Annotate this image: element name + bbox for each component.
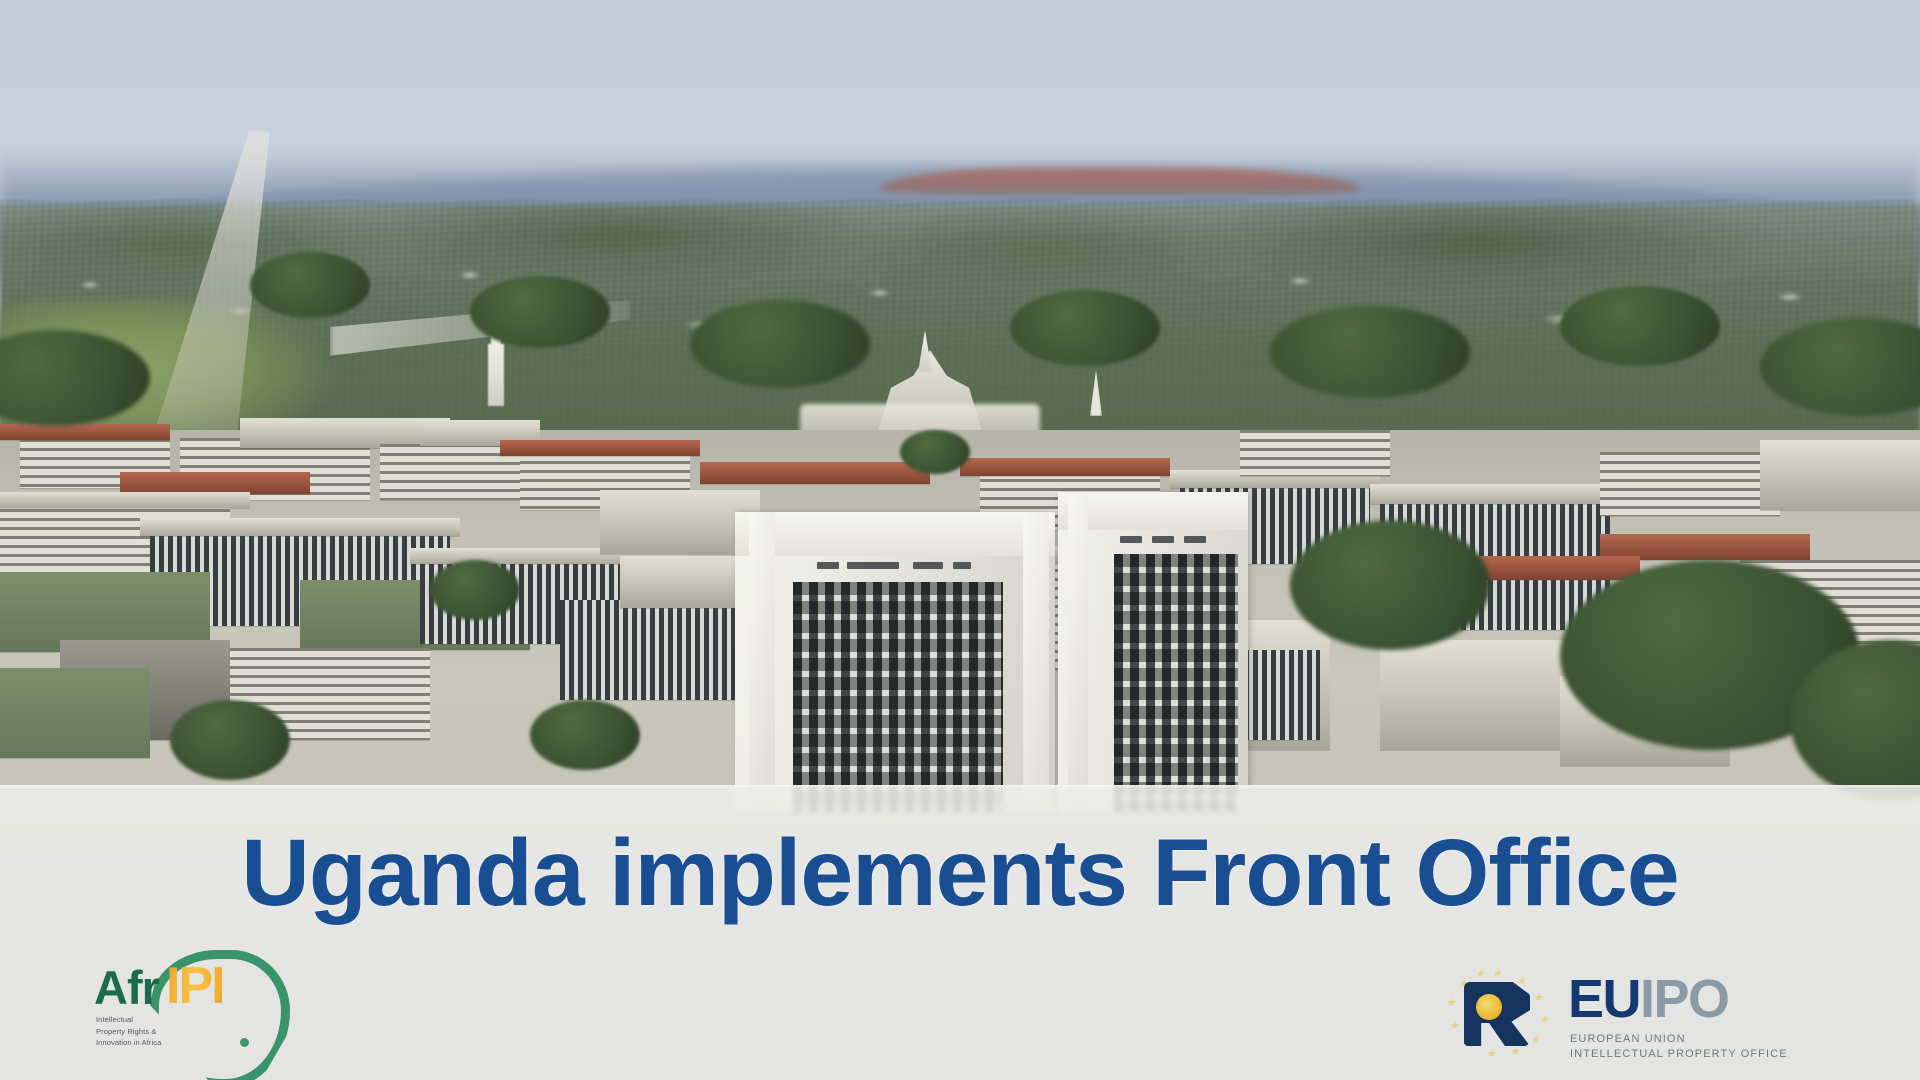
building-block [1760,440,1920,510]
building-block-glass [560,600,740,700]
white-monument-tower [488,344,504,406]
afripi-logo-word: Afr [94,964,159,1011]
building-block [1380,640,1580,750]
building-block [1240,430,1390,476]
tower-signage [817,562,839,569]
building-block [120,472,310,494]
building-block [1370,484,1620,504]
tower-signage [953,562,971,569]
euipo-wordmark-eu: EU [1568,969,1640,1029]
afripi-logo-accent: IPI [166,960,224,1012]
euipo-logo: ★ ★ ★ ★ ★ ★ ★ ★ ★ ★ ★ ★ EUIPO EUROPEAN U… [1442,954,1802,1074]
building-block [0,492,250,508]
euipo-subtitle: EUROPEAN UNION INTELLECTUAL PROPERTY OFF… [1570,1032,1788,1062]
tree [1290,520,1490,650]
euipo-r-dot-icon [1476,994,1502,1020]
tower-pier [1068,492,1088,812]
building-block [0,424,170,440]
building-block [960,458,1170,476]
tower-facade [793,582,1003,812]
euipo-wordmark-ipo: IPO [1640,969,1729,1029]
tower-cap [735,512,1055,556]
tower-facade [1114,554,1238,812]
afripi-tagline-line: Innovation in Africa [96,1037,182,1049]
tower-signage [1184,536,1206,543]
page-title: Uganda implements Front Office [0,826,1920,921]
central-office-tower-left [735,512,1055,812]
euipo-wordmark: EUIPO [1568,972,1729,1026]
tree [690,300,870,388]
tree [1270,306,1470,398]
tree [530,700,640,770]
tower-signage [1120,536,1142,543]
afripi-tagline-line: Property Rights & [96,1026,182,1038]
afripi-tagline: Intellectual Property Rights & Innovatio… [96,1014,182,1049]
building-block [700,462,930,484]
tree [430,560,520,620]
tower-signage [1152,536,1174,543]
tree [1010,290,1160,366]
tree [470,276,610,348]
banner-top-edge [0,785,1920,788]
euipo-subtitle-line: INTELLECTUAL PROPERTY OFFICE [1570,1047,1788,1062]
central-office-tower-right [1058,492,1248,812]
tree [250,252,370,318]
afripi-logo: IPI Afr Intellectual Property Rights & I… [88,950,298,1078]
building-block [1600,452,1780,516]
tower-signage [913,562,943,569]
tower-pier [1023,512,1049,812]
building-block [140,518,460,536]
euipo-subtitle-line: EUROPEAN UNION [1570,1032,1788,1047]
africa-outline-dot-icon [240,1038,249,1047]
building-block-green-roof [0,668,150,758]
euipo-emblem-icon: ★ ★ ★ ★ ★ ★ ★ ★ ★ ★ ★ ★ [1442,968,1554,1060]
building-block [620,556,740,608]
tree [900,430,970,474]
tree [170,700,290,780]
tree [1560,286,1720,366]
presentation-slide: Uganda implements Front Office IPI Afr I… [0,0,1920,1080]
tower-signage [847,562,899,569]
building-block [500,440,700,456]
tower-pier [749,512,775,812]
afripi-tagline-line: Intellectual [96,1014,182,1026]
